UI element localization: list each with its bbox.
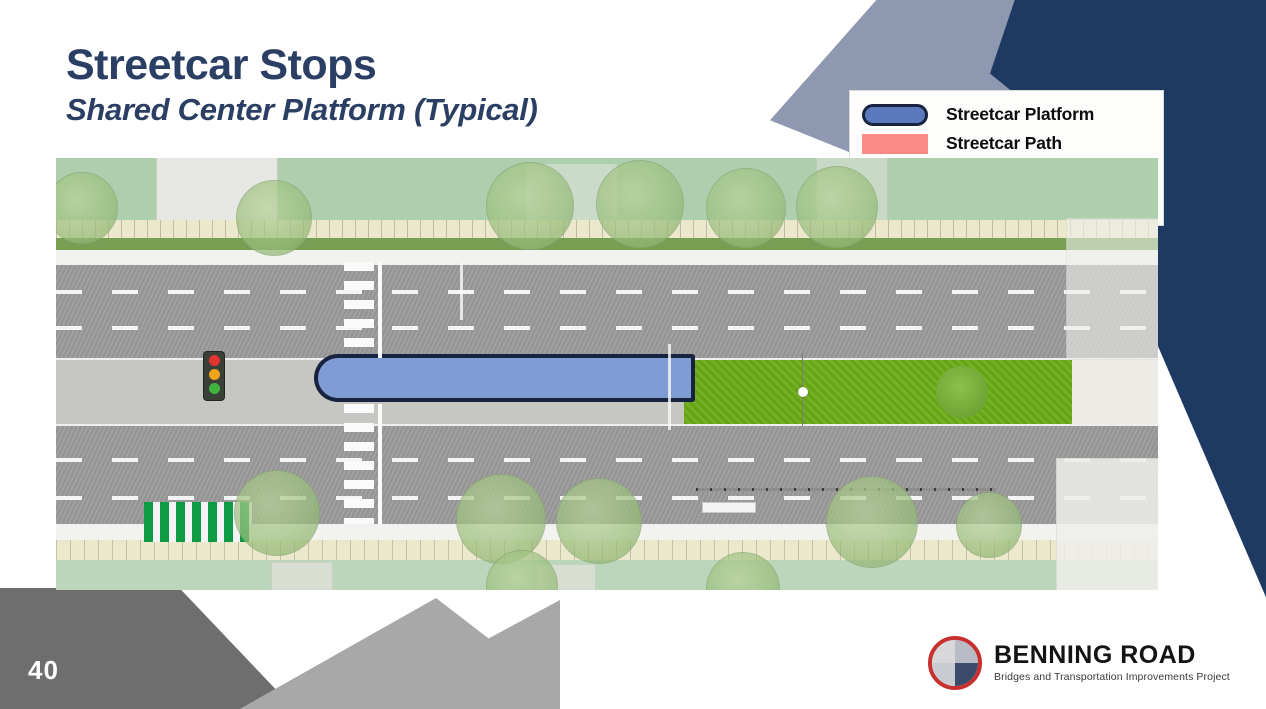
decorative-polygon-bottom-left-dark-gray (0, 588, 360, 709)
legend-item-streetcar-platform: Streetcar Platform (862, 100, 1153, 129)
edge-line-north (56, 262, 1158, 265)
legend-swatch-path-icon (862, 134, 934, 154)
benning-road-seal-icon (928, 636, 982, 690)
tree-north-2 (486, 162, 574, 250)
tree-north-3 (596, 160, 684, 248)
page-number: 40 (28, 655, 59, 686)
signal-red-light (209, 355, 220, 366)
slide: Streetcar Stops Shared Center Platform (… (0, 0, 1266, 709)
tree-north-5 (796, 166, 878, 248)
landscaped-median (684, 360, 1072, 424)
median-tree (936, 366, 988, 418)
legend-label-streetcar-path: Streetcar Path (946, 133, 1062, 154)
crosswalk-south (344, 404, 374, 524)
tree-south-2 (456, 474, 546, 564)
decorative-polygon-bottom-light-gray (100, 598, 520, 709)
parking-lot-south (1056, 458, 1158, 590)
tree-south-3 (556, 478, 642, 564)
lane-dashes-south-1 (56, 458, 1158, 462)
lane-dashes-north-1 (56, 290, 1158, 294)
streetcar-platform[interactable] (314, 354, 695, 402)
tree-south-5 (956, 492, 1022, 558)
stop-bar-north (378, 262, 382, 358)
legend-swatch-platform-icon (862, 104, 934, 126)
lane-line-mid (668, 344, 671, 430)
signal-amber-light (209, 369, 220, 380)
page-title: Streetcar Stops (66, 44, 538, 87)
project-logo: BENNING ROAD Bridges and Transportation … (928, 636, 1230, 690)
tree-south-4 (826, 476, 918, 568)
roadway-north (56, 262, 1158, 358)
traffic-signal-icon (203, 351, 225, 401)
vehicle-south (702, 502, 756, 513)
sidewalk-north (56, 250, 1158, 262)
lane-line-north (460, 262, 463, 320)
tree-south-1 (234, 470, 320, 556)
title-block: Streetcar Stops Shared Center Platform (… (66, 44, 538, 127)
legend-item-streetcar-path: Streetcar Path (862, 129, 1153, 158)
lane-dashes-north-2 (56, 326, 1158, 330)
tree-north-4 (706, 168, 786, 248)
building-south-1 (271, 562, 333, 590)
legend-label-streetcar-platform: Streetcar Platform (946, 104, 1094, 125)
median-pole-dot (798, 387, 808, 397)
decorative-triangle-right-navy (1150, 210, 1266, 630)
lawn-south (56, 560, 1158, 590)
crosswalk-north (344, 262, 374, 354)
logo-title: BENNING ROAD (994, 643, 1230, 668)
tree-north-1 (236, 180, 312, 256)
signal-green-light (209, 383, 220, 394)
aerial-plan-view (56, 158, 1158, 590)
page-subtitle: Shared Center Platform (Typical) (66, 93, 538, 127)
median-concrete-pad (1072, 360, 1158, 424)
hedge-north (56, 238, 1158, 250)
logo-subtitle: Bridges and Transportation Improvements … (994, 671, 1230, 683)
parking-lot-north (1066, 218, 1158, 360)
decorative-triangle-bottom-center-gray (300, 600, 560, 709)
stop-bar-south (378, 404, 382, 524)
